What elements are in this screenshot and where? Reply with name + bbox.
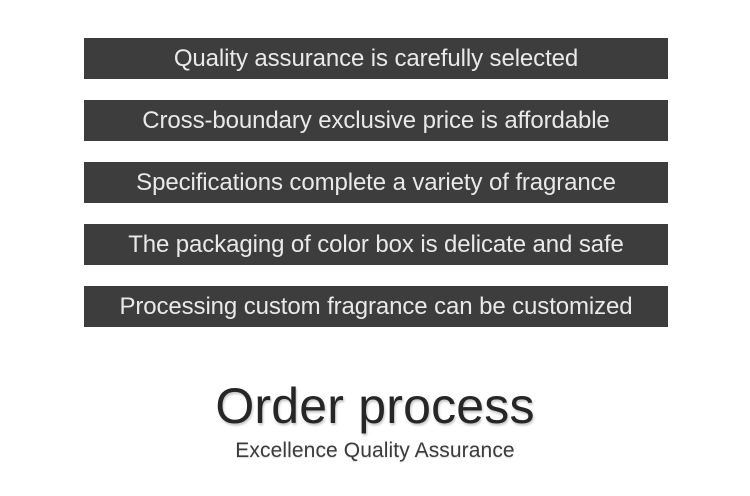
feature-bar-2: Cross-boundary exclusive price is afford… bbox=[84, 100, 668, 141]
promo-banner-page: Quality assurance is carefully selected … bbox=[0, 0, 750, 496]
feature-bar-label: Specifications complete a variety of fra… bbox=[136, 170, 616, 196]
feature-bar-4: The packaging of color box is delicate a… bbox=[84, 224, 668, 265]
page-subtitle: Excellence Quality Assurance bbox=[0, 438, 750, 464]
feature-bar-label: Quality assurance is carefully selected bbox=[174, 46, 578, 72]
feature-bar-label: Processing custom fragrance can be custo… bbox=[119, 294, 632, 320]
feature-bar-1: Quality assurance is carefully selected bbox=[84, 38, 668, 79]
page-title: Order process bbox=[0, 378, 750, 434]
feature-bar-list: Quality assurance is carefully selected … bbox=[84, 38, 668, 327]
section-heading: Order process Excellence Quality Assuran… bbox=[0, 378, 750, 464]
feature-bar-label: Cross-boundary exclusive price is afford… bbox=[142, 108, 609, 134]
feature-bar-3: Specifications complete a variety of fra… bbox=[84, 162, 668, 203]
feature-bar-5: Processing custom fragrance can be custo… bbox=[84, 286, 668, 327]
feature-bar-label: The packaging of color box is delicate a… bbox=[128, 232, 624, 258]
